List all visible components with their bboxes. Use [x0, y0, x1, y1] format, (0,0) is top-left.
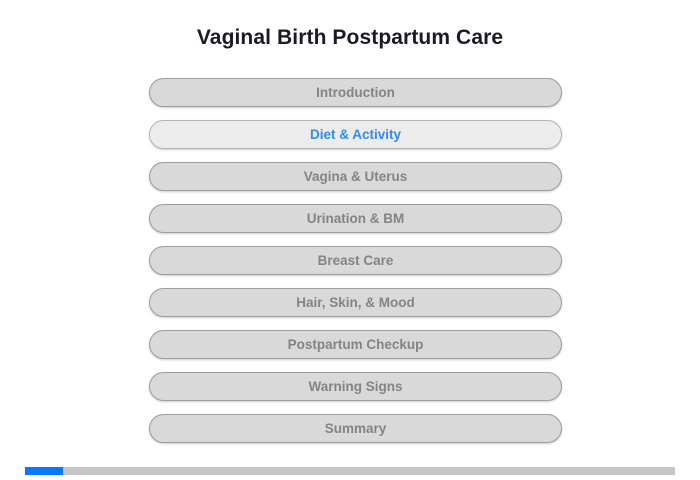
menu-button-diet-and-activity[interactable]: Diet & Activity [149, 120, 562, 149]
menu-button-vagina-and-uterus[interactable]: Vagina & Uterus [149, 162, 562, 191]
progress-bar[interactable] [25, 467, 675, 475]
menu-button-breast-care[interactable]: Breast Care [149, 246, 562, 275]
menu-button-label: Warning Signs [150, 373, 561, 400]
menu-button-label: Diet & Activity [150, 121, 561, 148]
menu-button-label: Introduction [150, 79, 561, 106]
menu-button-hair-skin-and-mood[interactable]: Hair, Skin, & Mood [149, 288, 562, 317]
page-title: Vaginal Birth Postpartum Care [0, 25, 700, 51]
menu-button-urination-and-bm[interactable]: Urination & BM [149, 204, 562, 233]
menu-button-label: Breast Care [150, 247, 561, 274]
menu-button-label: Hair, Skin, & Mood [150, 289, 561, 316]
menu-button-label: Urination & BM [150, 205, 561, 232]
menu-button-introduction[interactable]: Introduction [149, 78, 562, 107]
menu-button-label: Vagina & Uterus [150, 163, 561, 190]
progress-bar-fill [25, 467, 63, 475]
menu-button-label: Postpartum Checkup [150, 331, 561, 358]
menu-button-postpartum-checkup[interactable]: Postpartum Checkup [149, 330, 562, 359]
menu-button-summary[interactable]: Summary [149, 414, 562, 443]
slide-viewer: Vaginal Birth Postpartum Care Introducti… [0, 0, 700, 480]
section-menu: Introduction Diet & Activity Vagina & Ut… [149, 78, 562, 443]
menu-button-label: Summary [150, 415, 561, 442]
menu-button-warning-signs[interactable]: Warning Signs [149, 372, 562, 401]
